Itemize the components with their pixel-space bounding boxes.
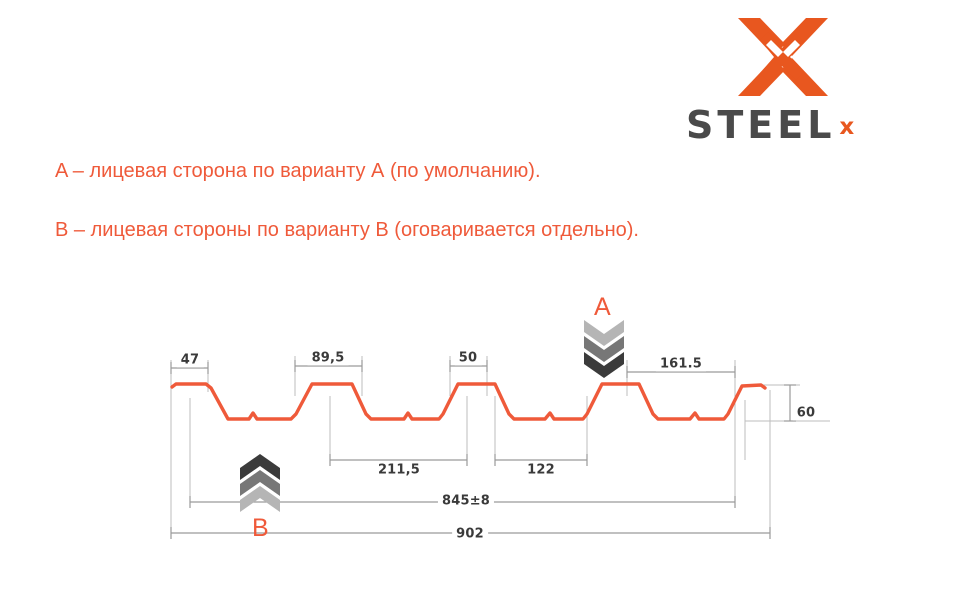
dim-label-top-flange-width: 47 <box>177 353 204 368</box>
dim-label-rib-spacing-main: 211,5 <box>374 463 424 478</box>
dim-label-rib-pitch-upper: 89,5 <box>308 351 349 366</box>
dim-label-rib-crest-width: 50 <box>455 351 482 366</box>
marker-a-label: A <box>594 293 611 322</box>
dim-label-profile-height: 60 <box>793 406 820 421</box>
dim-label-end-flange-width: 161.5 <box>656 357 706 372</box>
dim-label-effective-width: 845±8 <box>438 494 494 509</box>
dimension-ticks <box>171 360 796 539</box>
dim-label-valley-width: 122 <box>523 463 559 478</box>
extension-lines <box>171 356 830 537</box>
corrugated-profile-outline <box>172 384 765 419</box>
marker-a-chevrons-icon <box>584 320 624 378</box>
marker-b-label: B <box>252 514 269 543</box>
marker-b-chevrons-icon <box>240 454 280 512</box>
dim-label-overall-width: 902 <box>452 527 488 542</box>
